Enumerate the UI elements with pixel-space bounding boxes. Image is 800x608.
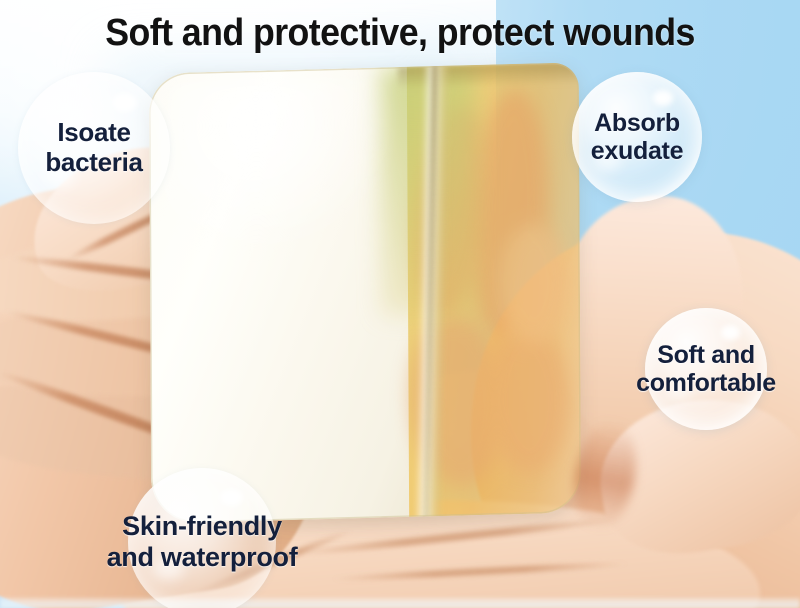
feature-label-line-1: Soft and [657,341,755,369]
feature-label-line-2: bacteria [45,147,142,177]
feature-label-line-1: Skin-friendly [122,511,282,541]
feature-label-line-1: Isoate [57,117,130,147]
poster-headline: Soft and protective, protect wounds [24,12,776,55]
feature-label-isolate-bacteria: Isoate bacteria [45,118,142,177]
feature-bubble-skin-friendly-waterproof: Skin-friendly and waterproof [128,468,276,608]
bubble-highlight-icon [112,93,136,111]
feature-bubble-isolate-bacteria: Isoate bacteria [18,72,170,224]
feature-label-line-2: exudate [591,137,683,165]
product-feature-poster: Isoate bacteria Absorb exudate Soft and … [0,0,800,608]
feature-bubble-absorb-exudate: Absorb exudate [572,72,702,202]
dressing-body [149,62,581,523]
wound-dressing [150,68,580,518]
bubble-highlight-icon [721,325,741,340]
feature-label-line-2: comfortable [636,369,776,397]
feature-bubble-soft-comfortable: Soft and comfortable [645,308,767,430]
feature-label-line-2: and waterproof [107,542,298,572]
bubble-highlight-icon [653,90,674,106]
feature-label-skin-friendly-waterproof: Skin-friendly and waterproof [107,511,298,573]
feature-label-line-1: Absorb [594,109,680,137]
feature-label-soft-comfortable: Soft and comfortable [636,341,776,398]
bottom-edge-strip [0,598,800,608]
feature-label-absorb-exudate: Absorb exudate [591,109,683,166]
dressing-rim [149,62,581,523]
